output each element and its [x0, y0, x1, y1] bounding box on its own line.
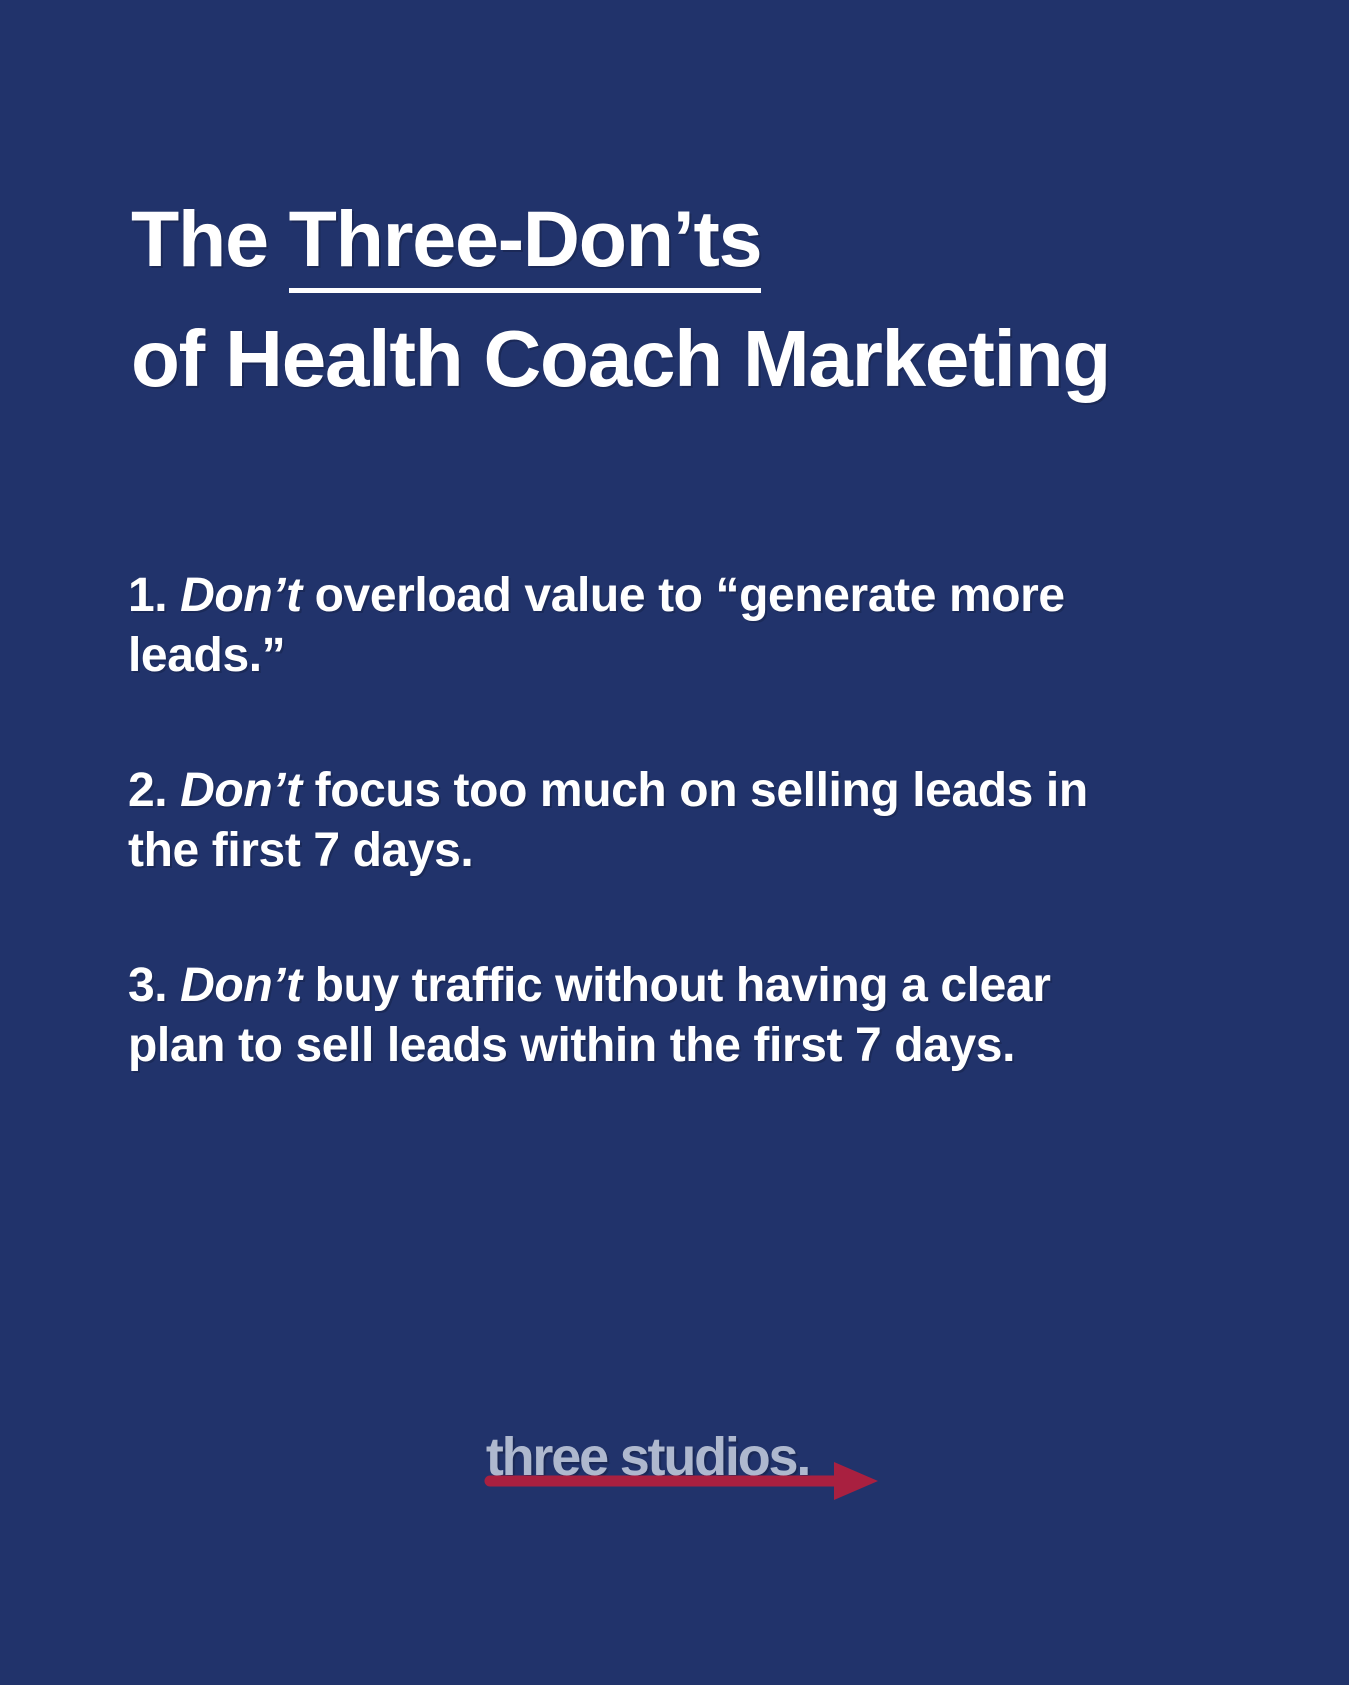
list-item-emphasis: Don’t — [180, 764, 302, 817]
logo-inner: three studios. — [480, 1430, 869, 1518]
poster-canvas: The Three-Don’ts of Health Coach Marketi… — [0, 0, 1349, 1685]
page-title: The Three-Don’ts of Health Coach Marketi… — [131, 196, 1231, 402]
list-item-number: 3. — [128, 959, 180, 1012]
title-underlined-phrase: Three-Don’ts — [289, 196, 762, 293]
list-item: 1. Don’t overload value to “generate mor… — [128, 566, 1158, 687]
list-item-emphasis: Don’t — [180, 959, 302, 1012]
list-item-number: 2. — [128, 764, 180, 817]
title-line-2: of Health Coach Marketing — [131, 315, 1231, 402]
title-prefix: The — [131, 194, 289, 283]
right-arrow-icon — [486, 1460, 879, 1502]
list-item-emphasis: Don’t — [180, 569, 302, 622]
brand-logo: three studios. — [0, 1430, 1349, 1518]
dont-list: 1. Don’t overload value to “generate mor… — [128, 566, 1158, 1077]
list-item-number: 1. — [128, 569, 180, 622]
list-item: 3. Don’t buy traffic without having a cl… — [128, 956, 1158, 1077]
list-item: 2. Don’t focus too much on selling leads… — [128, 761, 1158, 882]
title-line-1: The Three-Don’ts — [131, 196, 1231, 293]
